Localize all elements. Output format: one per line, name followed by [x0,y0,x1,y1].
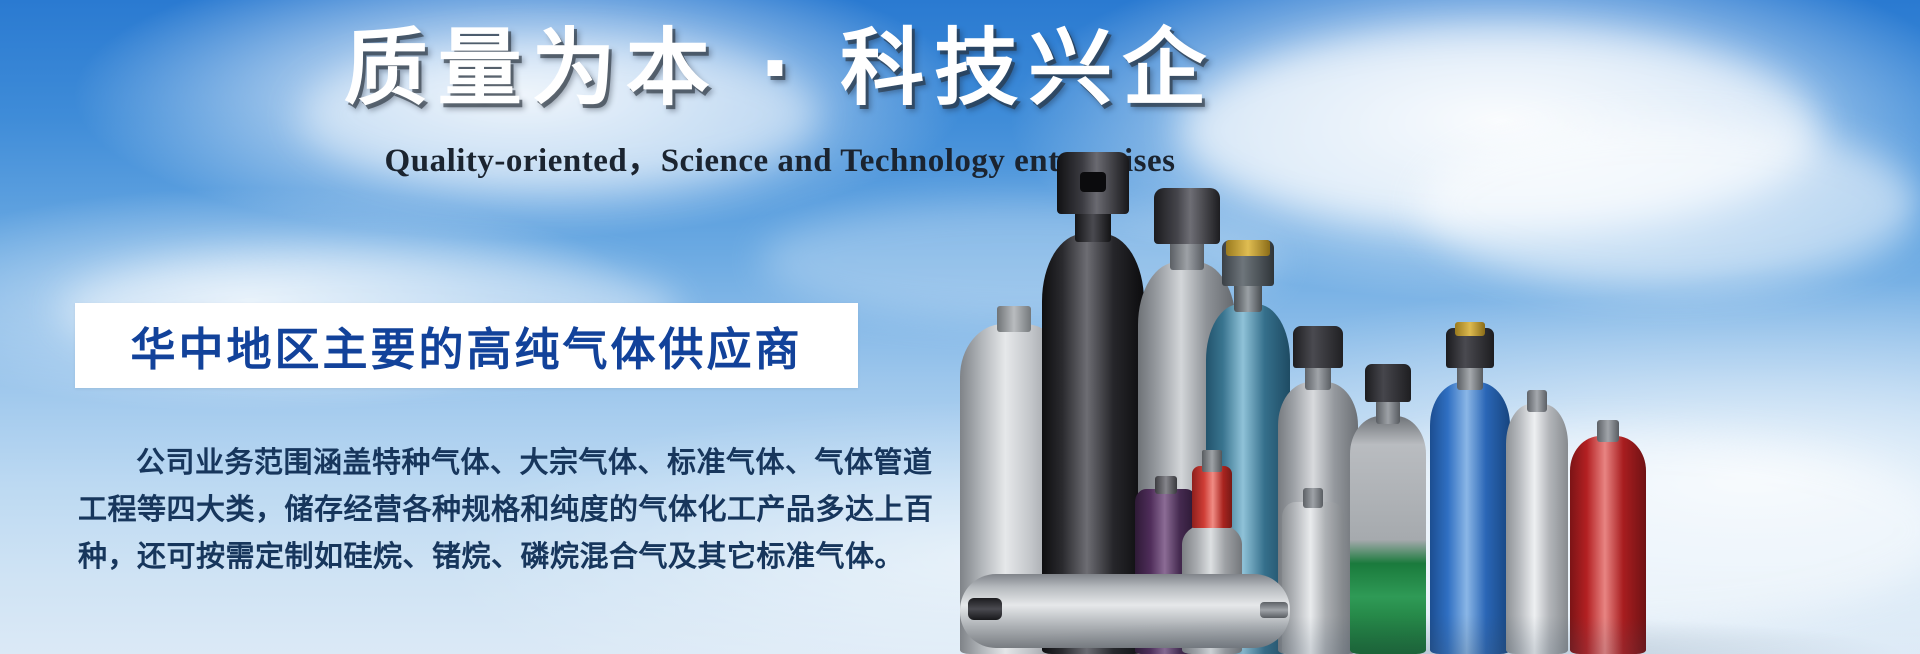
green-base-cylinder [1350,364,1426,654]
description-line-2: 工程等四大类，储存经营各种规格和纯度的气体化工产品多达上百 [78,487,868,534]
description-line-3: 种，还可按需定制如硅烷、锗烷、磷烷混合气及其它标准气体。 [78,534,868,581]
steel-blue-cylinder [1430,324,1510,654]
promo-banner: 质量为本 · 科技兴企 Quality-oriented，Science and… [0,0,1920,654]
slogan-box: 华中地区主要的高纯气体供应商 [75,303,858,388]
cylinder-floor-shadow [980,614,1910,654]
description-paragraph: 公司业务范围涵盖特种气体、大宗气体、标准气体、气体管道 工程等四大类，储存经营各… [78,440,868,581]
gas-cylinders-image [930,0,1920,654]
slogan-text: 华中地区主要的高纯气体供应商 [130,313,802,378]
silver-cylinder [1506,364,1568,654]
description-line-1: 公司业务范围涵盖特种气体、大宗气体、标准气体、气体管道 [78,440,868,487]
